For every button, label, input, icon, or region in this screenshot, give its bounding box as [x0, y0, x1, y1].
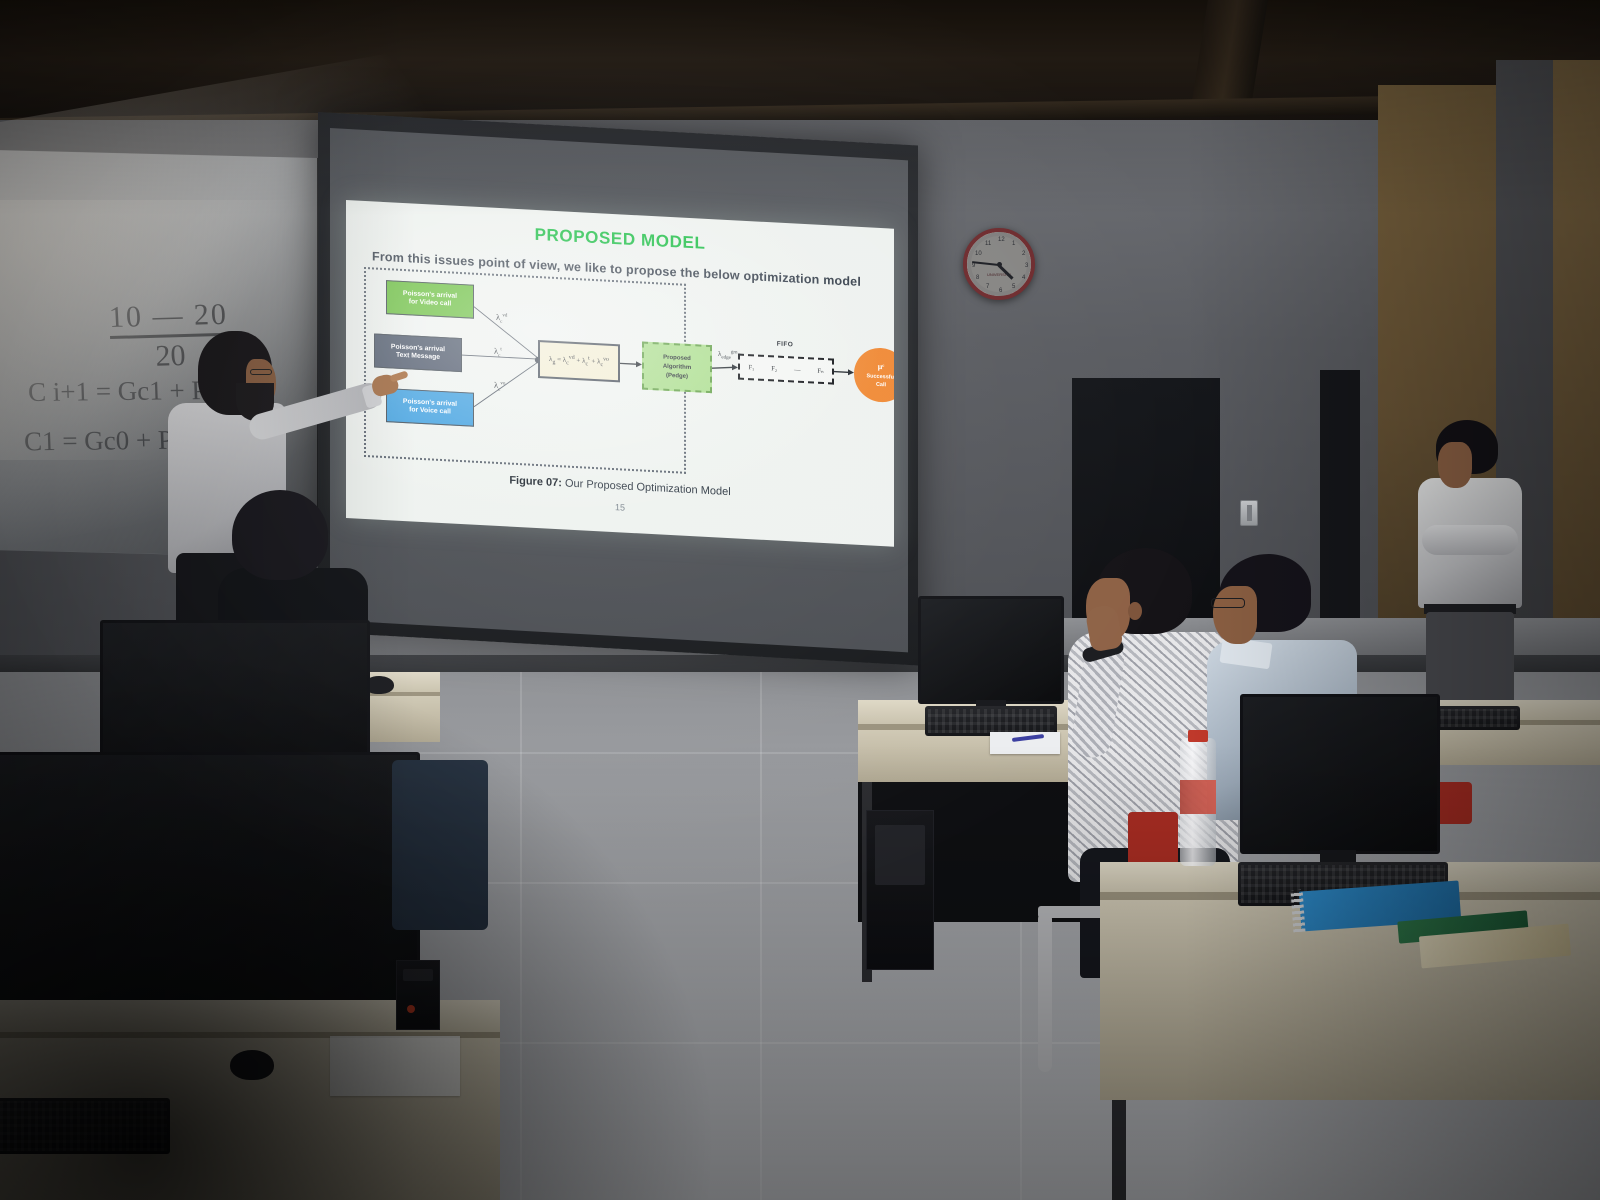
- light-switch[interactable]: [1240, 500, 1258, 526]
- paper-sheet: [330, 1036, 460, 1096]
- viewer-b-face: [1213, 586, 1257, 644]
- wall-clock: 12 1 2 3 4 5 6 7 8 9 10 11 UNIVERSITY: [963, 228, 1035, 300]
- presenter-glasses: [250, 369, 272, 375]
- standing-man: [1400, 420, 1540, 710]
- stander-face: [1438, 442, 1472, 488]
- figure-caption-bold: Figure 07:: [509, 475, 562, 490]
- keyboard[interactable]: [0, 1098, 170, 1154]
- fifo-item: Fₙ: [817, 367, 823, 375]
- figure-caption-rest: Our Proposed Optimization Model: [562, 477, 731, 498]
- node-voice-label: Poisson's arrivalfor Voice call: [403, 397, 457, 417]
- fifo-item: F₂: [771, 365, 777, 372]
- arrow-label-text: λct: [494, 346, 502, 359]
- arrow-label-edge: λedgegrn: [718, 349, 738, 361]
- fifo-item: —: [794, 366, 801, 373]
- aggregate-equation-text: λg = λcvd + λct + λcvo: [549, 354, 609, 369]
- viewer-b-glasses: [1211, 598, 1245, 608]
- chair-frame: [1038, 906, 1104, 918]
- student-front-head: [232, 490, 328, 580]
- arrow-label-voice: λcvo: [494, 380, 505, 393]
- viewer-a-ear: [1128, 602, 1142, 620]
- node-video-label: Poisson's arrivalfor Video call: [403, 289, 457, 309]
- desktop-tower: [396, 960, 440, 1030]
- node-video-call: Poisson's arrivalfor Video call: [386, 280, 474, 319]
- output-line-2: Call: [876, 381, 886, 390]
- fifo-queue: F₁ F₂ — Fₙ: [738, 354, 834, 385]
- algorithm-line-3: (Pedge): [666, 371, 688, 381]
- node-aggregate-equation: λg = λcvd + λct + λcvo: [538, 340, 620, 382]
- classroom-scene: 10 — 20 20 C i+1 = Gc1 + P1 C1 C1 = Gc0 …: [0, 0, 1600, 1200]
- desktop-tower: [866, 810, 934, 970]
- projected-slide[interactable]: PROPOSED MODEL From this issues point of…: [346, 200, 894, 547]
- chair-frame: [1038, 912, 1052, 1072]
- node-proposed-algorithm: Proposed Algorithm (Pedge): [642, 342, 712, 394]
- fifo-label: FIFO: [750, 339, 820, 350]
- clock-dim-overlay: [967, 232, 1031, 296]
- blue-chair[interactable]: [392, 760, 488, 930]
- node-successful-call: μᶜ Successful Call: [854, 347, 894, 404]
- output-symbol: μᶜ: [878, 361, 885, 373]
- mouse[interactable]: [230, 1050, 274, 1080]
- arrow-label-video: λcvd: [496, 312, 507, 325]
- fifo-item: F₁: [748, 364, 754, 371]
- stander-crossed-arms: [1422, 525, 1518, 555]
